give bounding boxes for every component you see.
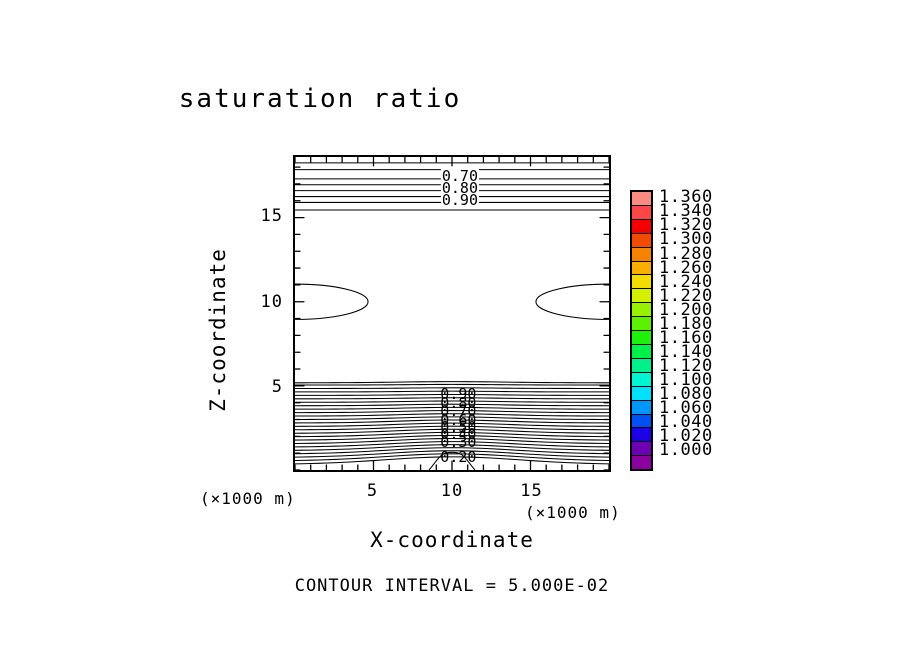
x-axis-title: X-coordinate bbox=[293, 528, 611, 552]
contour-label: 0.90 bbox=[441, 193, 479, 208]
colorbar-band bbox=[632, 192, 651, 206]
colorbar-band bbox=[632, 456, 651, 469]
colorbar-band bbox=[632, 303, 651, 317]
contour-plot-page: saturation ratio 5101551015 0.700.800.90… bbox=[0, 0, 904, 654]
colorbar-band bbox=[632, 234, 651, 248]
y-tick-label: 10 bbox=[245, 292, 283, 312]
y-tick-label: 15 bbox=[245, 206, 283, 226]
colorbar bbox=[630, 190, 653, 471]
page-title: saturation ratio bbox=[0, 84, 640, 114]
colorbar-band bbox=[632, 206, 651, 220]
colorbar-band bbox=[632, 373, 651, 387]
colorbar-band bbox=[632, 248, 651, 262]
colorbar-band bbox=[632, 428, 651, 442]
colorbar-band bbox=[632, 275, 651, 289]
colorbar-band bbox=[632, 401, 651, 415]
colorbar-band bbox=[632, 442, 651, 456]
x-tick-label: 10 bbox=[441, 481, 463, 501]
y-axis-unit-label: (×1000 m) bbox=[200, 489, 296, 508]
colorbar-band bbox=[632, 289, 651, 303]
colorbar-tick-label: 1.000 bbox=[659, 440, 713, 460]
colorbar-labels: 1.3601.3401.3201.3001.2801.2601.2401.220… bbox=[659, 190, 739, 471]
x-tick-label: 5 bbox=[367, 481, 378, 501]
colorbar-band bbox=[632, 331, 651, 345]
x-tick-label: 15 bbox=[520, 481, 542, 501]
contour-interval-note: CONTOUR INTERVAL = 5.000E-02 bbox=[0, 576, 904, 596]
colorbar-band bbox=[632, 317, 651, 331]
contour-label: 0.20 bbox=[439, 450, 477, 465]
colorbar-band bbox=[632, 359, 651, 373]
colorbar-band bbox=[632, 262, 651, 276]
colorbar-band bbox=[632, 415, 651, 429]
colorbar-band bbox=[632, 220, 651, 234]
x-axis-unit-label: (×1000 m) bbox=[525, 503, 621, 522]
y-tick-label: 5 bbox=[245, 377, 283, 397]
y-axis-title: Z-coordinate bbox=[206, 248, 230, 412]
colorbar-band bbox=[632, 387, 651, 401]
colorbar-band bbox=[632, 345, 651, 359]
